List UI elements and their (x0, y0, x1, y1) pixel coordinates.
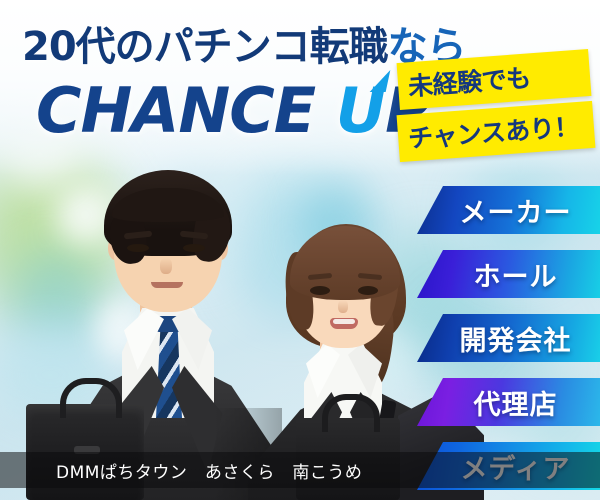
chance-up-logo: CHANCE UP (36, 74, 430, 147)
businesswoman-hair-front (290, 226, 400, 300)
businessman-eye (183, 244, 205, 252)
businesswoman-mouth (330, 318, 358, 329)
credit-bar: DMMぱちタウン あさくら 南こうめ (0, 452, 600, 488)
category-button-development-company[interactable]: 開発会社 (417, 314, 600, 362)
credit-text: DMMぱちタウン あさくら 南こうめ (0, 458, 362, 483)
headline-part1: 20代のパチンコ (22, 24, 310, 70)
category-label: メーカー (417, 191, 600, 230)
headline-part2: 転職 (310, 24, 388, 70)
businesswoman-eye (310, 286, 330, 295)
businessman-eye (127, 244, 149, 252)
briefcase-handle (322, 394, 380, 432)
businessman-nose (160, 258, 172, 274)
category-label: 開発会社 (417, 319, 600, 358)
businesswoman-nose (338, 300, 348, 313)
category-label: 代理店 (417, 383, 600, 422)
logo-letter-u: U (336, 74, 385, 147)
businessman-mouth (151, 282, 183, 288)
promo-badge-line1: 未経験でも (397, 49, 592, 110)
promo-badge: 未経験でも チャンスあり！ (398, 56, 594, 155)
briefcase-handle (60, 378, 122, 418)
pachinko-job-banner-ad[interactable]: 20代のパチンコ転職なら CHANCE UP 未経験でも チャンスあり！ メーカ… (0, 0, 600, 500)
category-label: ホール (417, 255, 600, 294)
category-button-maker[interactable]: メーカー (417, 186, 600, 234)
promo-badge-line2: チャンスあり！ (397, 101, 596, 162)
businesswoman-eye (358, 286, 378, 295)
category-button-hall[interactable]: ホール (417, 250, 600, 298)
logo-word-chance: CHANCE (36, 74, 315, 147)
category-button-agency[interactable]: 代理店 (417, 378, 600, 426)
